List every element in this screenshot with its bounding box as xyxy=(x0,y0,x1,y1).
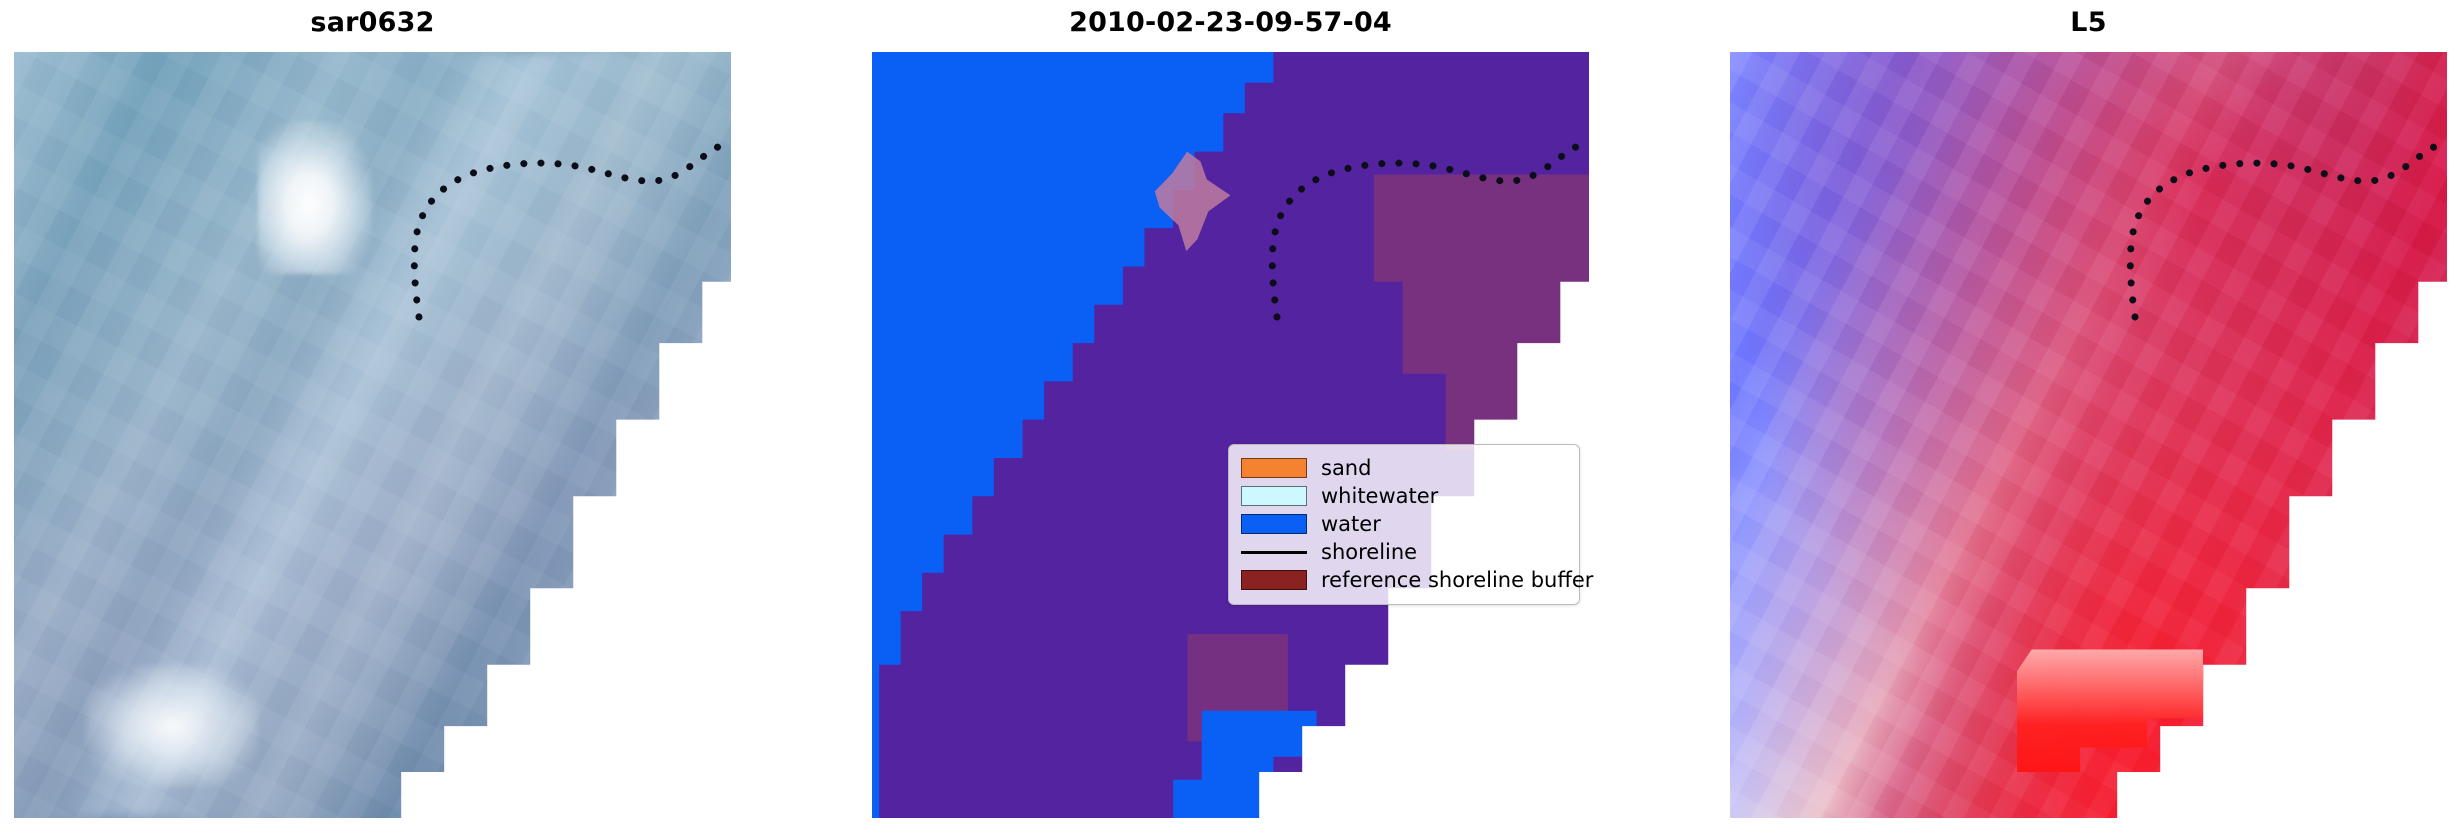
legend-line-shoreline-icon xyxy=(1241,542,1307,562)
legend-label-whitewater: whitewater xyxy=(1321,486,1438,507)
sar-bright-target xyxy=(258,121,373,274)
panel-title-l5: L5 xyxy=(1730,6,2447,40)
legend-item-reference-shoreline-buffer[interactable]: reference shoreline buffer xyxy=(1241,566,1567,594)
panel-l5[interactable] xyxy=(1730,52,2447,818)
legend-swatch-whitewater-icon xyxy=(1241,486,1307,506)
axes-l5 xyxy=(1730,52,2447,818)
legend-label-reference-shoreline-buffer: reference shoreline buffer xyxy=(1321,570,1593,591)
sar-bright-target-2 xyxy=(86,665,258,788)
legend-swatch-water-icon xyxy=(1241,514,1307,534)
panel-title-sar: sar0632 xyxy=(14,6,731,40)
panel-sar[interactable] xyxy=(14,52,731,818)
legend-label-sand: sand xyxy=(1321,458,1371,479)
panel-classification[interactable] xyxy=(872,52,1589,818)
axes-classification xyxy=(872,52,1589,818)
legend-item-sand[interactable]: sand xyxy=(1241,454,1567,482)
legend-label-shoreline: shoreline xyxy=(1321,542,1417,563)
axes-sar xyxy=(14,52,731,818)
legend-swatch-buffer-icon xyxy=(1241,570,1307,590)
legend-item-water[interactable]: water xyxy=(1241,510,1567,538)
figure-canvas: sar0632 2010-02-23-09-57-04 xyxy=(0,0,2460,834)
legend-item-whitewater[interactable]: whitewater xyxy=(1241,482,1567,510)
panel-title-classification: 2010-02-23-09-57-04 xyxy=(872,6,1589,40)
legend-box[interactable]: sand whitewater water shoreline referenc… xyxy=(1228,444,1580,605)
legend-label-water: water xyxy=(1321,514,1381,535)
legend-item-shoreline[interactable]: shoreline xyxy=(1241,538,1567,566)
legend-swatch-sand-icon xyxy=(1241,458,1307,478)
